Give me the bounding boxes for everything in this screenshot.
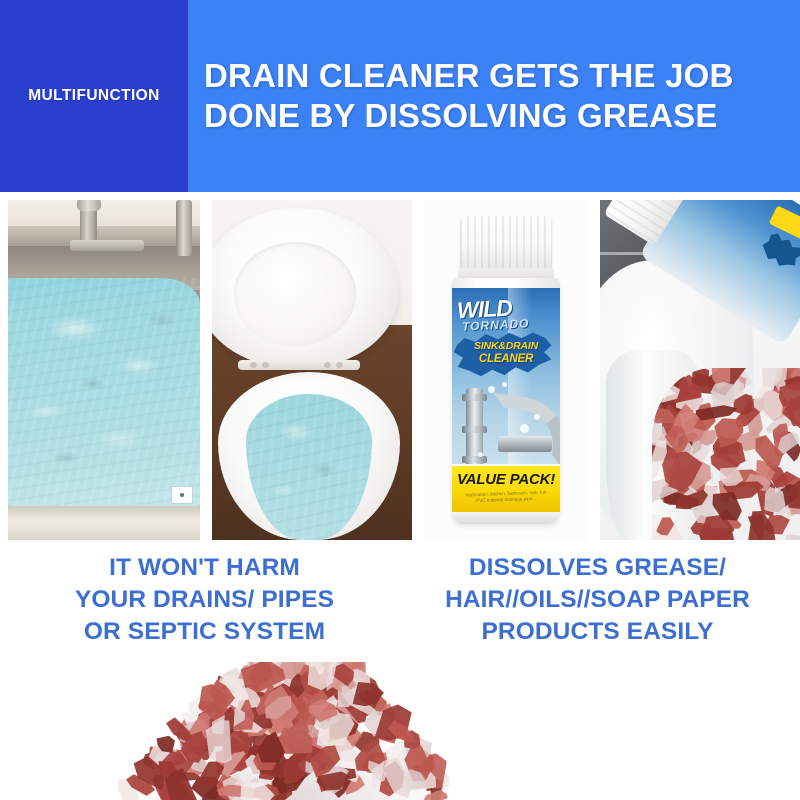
splash-droplet-icon	[488, 386, 495, 393]
product-bottle: WILD TORNADO SINK&DRAIN CLEANER	[446, 216, 566, 524]
sink-illustration	[8, 200, 200, 540]
pipe-horizontal-icon	[498, 436, 552, 452]
product-type-line-2: CLEANER	[452, 353, 560, 365]
toilet-cleaner-water	[246, 394, 372, 540]
header-banner: MULTIFUNCTION DRAIN CLEANER GETS THE JOB…	[0, 0, 800, 192]
bottle-body: WILD TORNADO SINK&DRAIN CLEANER	[452, 278, 560, 524]
headline-block: DRAIN CLEANER GETS THE JOB DONE BY DISSO…	[188, 0, 800, 192]
sprayer-icon	[176, 200, 192, 256]
headline-line-2: DONE BY DISSOLVING GREASE	[204, 96, 800, 136]
splash-droplet-icon	[478, 452, 483, 457]
bottle-illustration: WILD TORNADO SINK&DRAIN CLEANER	[424, 200, 588, 540]
benefit-captions: IT WON'T HARM YOUR DRAINS/ PIPES OR SEPT…	[0, 552, 800, 678]
pour-illustration	[600, 200, 800, 540]
sink-cleaner-water	[8, 278, 200, 508]
caption-left-line-1: IT WON'T HARM	[8, 552, 401, 584]
footer-flakes-pile	[118, 662, 466, 800]
sink-front-edge	[8, 506, 200, 540]
caption-left-line-3: OR SEPTIC SYSTEM	[8, 616, 401, 648]
headline-line-1: DRAIN CLEANER GETS THE JOB	[204, 56, 800, 96]
faucet-base-plate	[70, 240, 144, 251]
bottle-fineprint: Application: kitchen, bathroom, sink, tu…	[456, 489, 556, 504]
bottle-cap	[460, 216, 552, 272]
bottle-label-blue: WILD TORNADO SINK&DRAIN CLEANER	[452, 288, 560, 478]
toilet-hinge	[238, 360, 360, 370]
caption-right: DISSOLVES GREASE/ HAIR//OILS//SOAP PAPER…	[401, 552, 800, 678]
image-watermark-badge	[171, 486, 193, 504]
splash-droplet-icon	[534, 414, 540, 420]
caption-right-line-3: PRODUCTS EASILY	[401, 616, 794, 648]
red-flakes-cluster	[652, 368, 800, 540]
photo-pouring-granules	[600, 200, 800, 540]
bottle-base	[452, 512, 560, 524]
toilet-lid	[212, 208, 398, 368]
pipe-ring-icon	[462, 426, 487, 433]
caption-right-line-1: DISSOLVES GREASE/	[401, 552, 794, 584]
multifunction-badge: MULTIFUNCTION	[0, 0, 188, 192]
value-pack-label: VALUE PACK!	[452, 471, 560, 488]
cleaner-flake	[784, 533, 800, 540]
brand-name-secondary: TORNADO	[462, 316, 530, 334]
pipe-ring-icon	[462, 394, 487, 401]
photo-strip: WILD TORNADO SINK&DRAIN CLEANER	[0, 200, 800, 540]
toilet-lid-inner	[234, 242, 356, 346]
toilet-illustration	[212, 200, 412, 540]
splash-droplet-icon	[502, 382, 507, 387]
caption-left: IT WON'T HARM YOUR DRAINS/ PIPES OR SEPT…	[0, 552, 401, 678]
photo-product-bottle: WILD TORNADO SINK&DRAIN CLEANER	[424, 200, 588, 540]
photo-toilet	[212, 200, 412, 540]
caption-right-line-2: HAIR//OILS//SOAP PAPER	[401, 584, 794, 616]
photo-kitchen-sink	[8, 200, 200, 540]
splash-droplet-icon	[520, 424, 529, 433]
bottle-label-yellow: VALUE PACK! Application: kitchen, bathro…	[452, 464, 560, 512]
faucet-cap-icon	[77, 200, 101, 211]
product-type-line-1: SINK&DRAIN	[452, 340, 560, 352]
caption-left-line-2: YOUR DRAINS/ PIPES	[8, 584, 401, 616]
multifunction-badge-label: MULTIFUNCTION	[28, 87, 159, 105]
